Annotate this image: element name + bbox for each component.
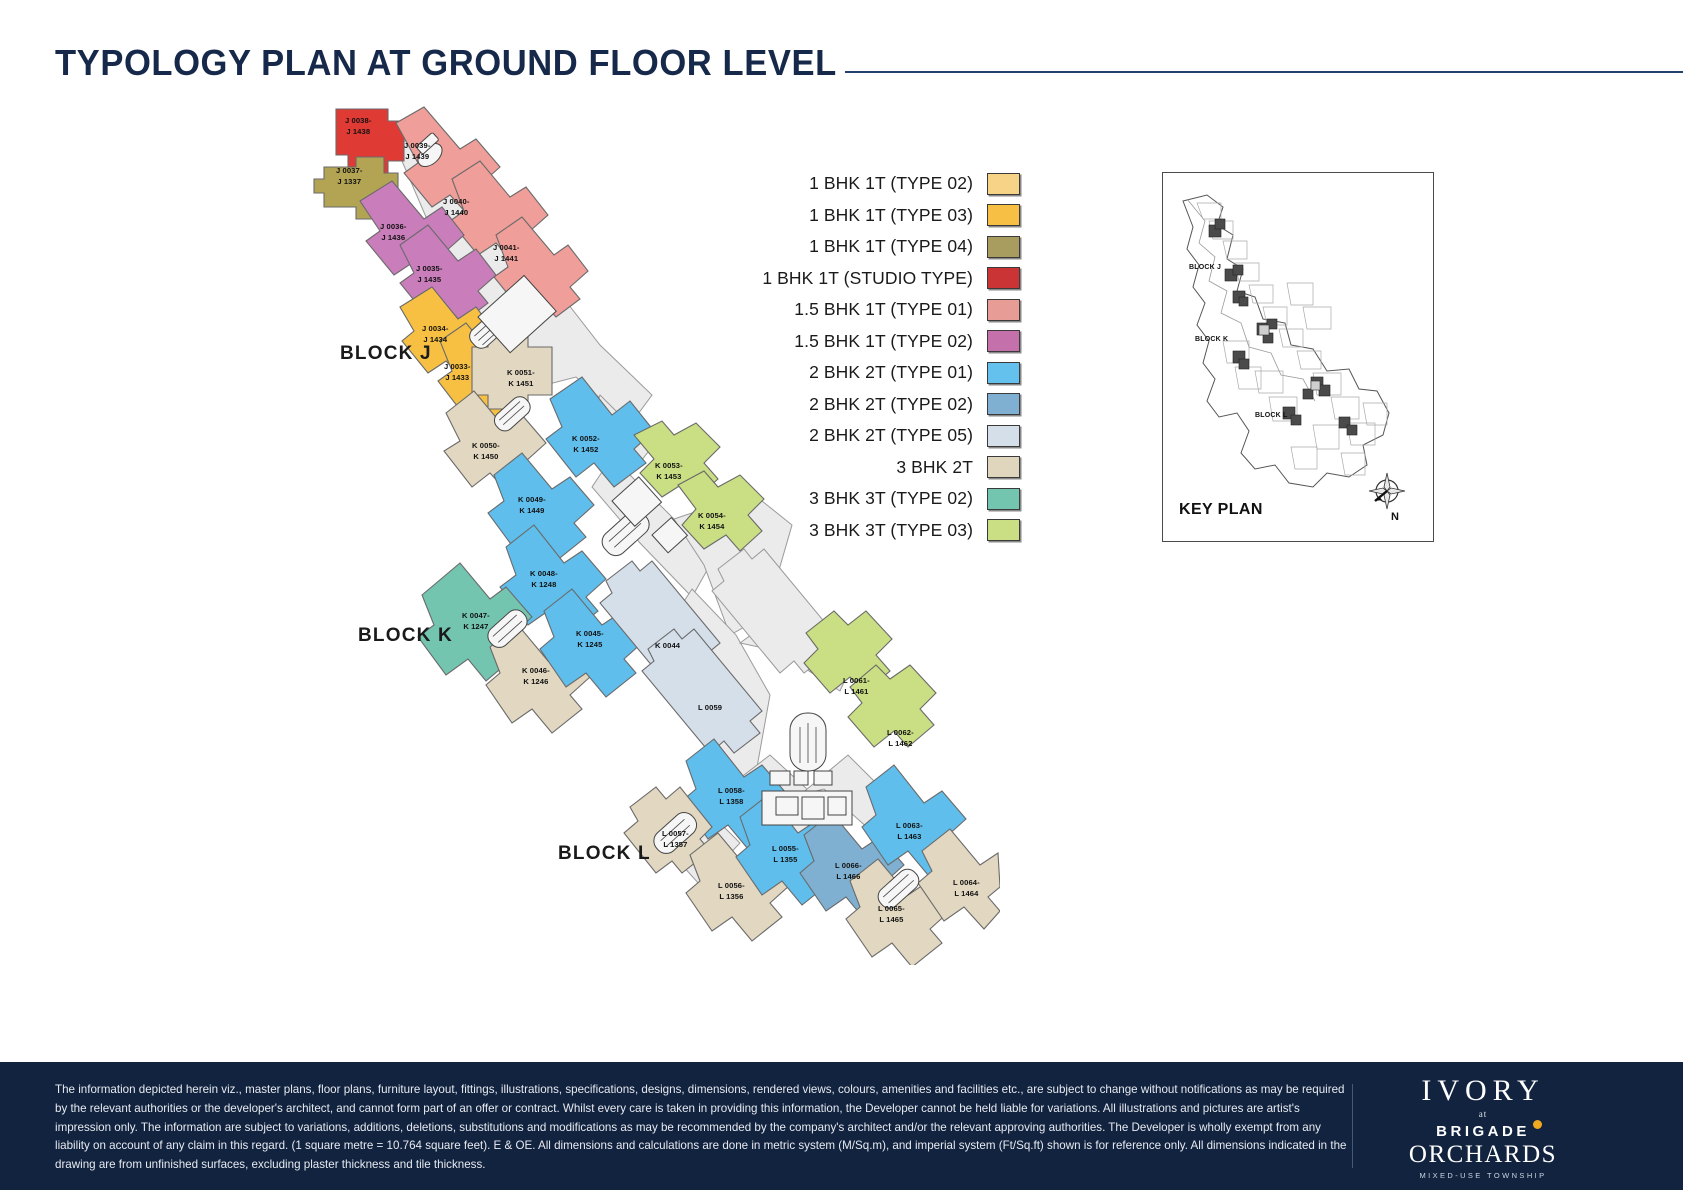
brand-at-text: at <box>1383 1109 1583 1119</box>
legend-item-label: 1 BHK 1T (TYPE 03) <box>809 205 973 226</box>
legend-item[interactable]: 3 BHK 3T (TYPE 02) <box>700 483 1020 515</box>
legend-item-label: 2 BHK 2T (TYPE 05) <box>809 425 973 446</box>
brand-orchards-text: ORCHARDS <box>1383 1142 1583 1168</box>
brand-brigade-label: BRIGADE <box>1436 1123 1530 1140</box>
legend-item-label: 1.5 BHK 1T (TYPE 01) <box>794 299 973 320</box>
brand-township-text: MIXED-USE TOWNSHIP <box>1383 1171 1583 1180</box>
key-plan-title: KEY PLAN <box>1179 501 1263 519</box>
compass-icon <box>1365 469 1409 519</box>
legend-color-swatch <box>987 267 1020 289</box>
legend-item[interactable]: 2 BHK 2T (TYPE 05) <box>700 420 1020 452</box>
block-name-l: BLOCK L <box>558 843 651 865</box>
legend-item-label: 1.5 BHK 1T (TYPE 02) <box>794 331 973 352</box>
page-header: TYPOLOGY PLAN AT GROUND FLOOR LEVEL <box>0 0 1683 110</box>
legend-item-label: 3 BHK 2T <box>896 457 973 478</box>
title-divider <box>845 71 1683 73</box>
legend-item[interactable]: 1.5 BHK 1T (TYPE 01) <box>700 294 1020 326</box>
legend-color-swatch <box>987 204 1020 226</box>
legend-color-swatch <box>987 330 1020 352</box>
legend-item[interactable]: 2 BHK 2T (TYPE 02) <box>700 389 1020 421</box>
keyplan-block-label-l: BLOCK L <box>1255 412 1288 419</box>
legend-item[interactable]: 2 BHK 2T (TYPE 01) <box>700 357 1020 389</box>
brand-dot-icon <box>1533 1120 1542 1129</box>
brand-brigade-text: BRIGADE <box>1436 1123 1530 1140</box>
legend-item[interactable]: 1.5 BHK 1T (TYPE 02) <box>700 326 1020 358</box>
disclaimer-text: The information depicted herein viz., ma… <box>55 1081 1355 1175</box>
block-name-k: BLOCK K <box>358 625 453 647</box>
page-footer: The information depicted herein viz., ma… <box>0 1062 1683 1190</box>
brand-divider <box>1352 1084 1353 1168</box>
legend-item[interactable]: 1 BHK 1T (TYPE 04) <box>700 231 1020 263</box>
legend-color-swatch <box>987 393 1020 415</box>
legend-item[interactable]: 3 BHK 2T <box>700 452 1020 484</box>
legend-item-label: 3 BHK 3T (TYPE 03) <box>809 520 973 541</box>
legend-item-label: 1 BHK 1T (TYPE 02) <box>809 173 973 194</box>
brand-logo: IVORY at BRIGADE ORCHARDS MIXED-USE TOWN… <box>1383 1076 1583 1176</box>
page-title: TYPOLOGY PLAN AT GROUND FLOOR LEVEL <box>55 42 837 84</box>
keyplan-block-label-j: BLOCK J <box>1189 264 1221 271</box>
legend-item-label: 3 BHK 3T (TYPE 02) <box>809 488 973 509</box>
legend-color-swatch <box>987 425 1020 447</box>
legend-color-swatch <box>987 456 1020 478</box>
legend-item[interactable]: 1 BHK 1T (STUDIO TYPE) <box>700 263 1020 295</box>
legend-color-swatch <box>987 173 1020 195</box>
legend-item-label: 2 BHK 2T (TYPE 01) <box>809 362 973 383</box>
key-plan-panel: BLOCK J BLOCK K BLOCK L KEY PLAN N <box>1162 172 1434 542</box>
keyplan-block-label-k: BLOCK K <box>1195 336 1228 343</box>
legend-item[interactable]: 1 BHK 1T (TYPE 02) <box>700 168 1020 200</box>
compass-north-label: N <box>1391 511 1399 523</box>
legend-item-label: 1 BHK 1T (TYPE 04) <box>809 236 973 257</box>
legend-color-swatch <box>987 236 1020 258</box>
legend-color-swatch <box>987 362 1020 384</box>
legend-color-swatch <box>987 299 1020 321</box>
typology-legend: 1 BHK 1T (TYPE 02)1 BHK 1T (TYPE 03)1 BH… <box>700 168 1020 546</box>
legend-item-label: 1 BHK 1T (STUDIO TYPE) <box>762 268 973 289</box>
legend-item-label: 2 BHK 2T (TYPE 02) <box>809 394 973 415</box>
legend-color-swatch <box>987 519 1020 541</box>
legend-item[interactable]: 3 BHK 3T (TYPE 03) <box>700 515 1020 547</box>
legend-item[interactable]: 1 BHK 1T (TYPE 03) <box>700 200 1020 232</box>
block-name-j: BLOCK J <box>340 343 432 365</box>
legend-color-swatch <box>987 488 1020 510</box>
brand-ivory-text: IVORY <box>1383 1076 1583 1106</box>
